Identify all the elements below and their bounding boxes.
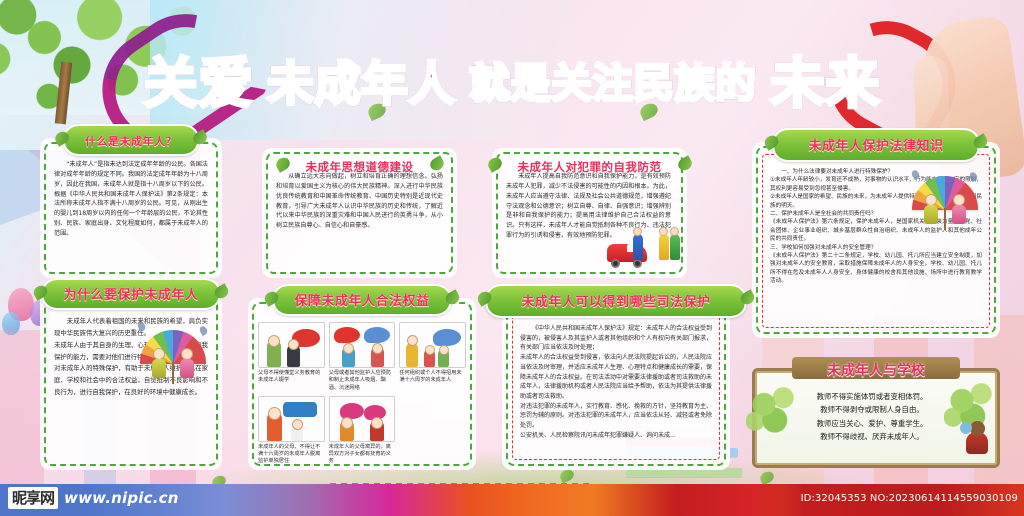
child-body	[180, 359, 194, 378]
panel-header-judicial-protection: 未成年人可以得到哪些司法保护	[485, 284, 746, 318]
reading-child-illustration	[960, 416, 994, 454]
comic-caption: 任何组织或个人不得招用未满十六周岁的未成年人	[399, 368, 466, 385]
umbrella-icon	[140, 330, 206, 364]
car-wheel	[633, 259, 642, 268]
person-head	[343, 343, 354, 354]
balloon-icon	[960, 422, 972, 434]
comic-caption: 未成年人的父母、不得让不满十六周岁的未成年人脱离监护单独居住	[258, 442, 325, 466]
person-figure-icon	[670, 234, 680, 260]
comic-illustration	[399, 322, 466, 368]
person-head	[292, 419, 303, 430]
comic-caption: 父母不得使懂堂义务教育的未成年人辍学	[258, 368, 325, 385]
legal-rights-comic-grid: 父母不得使懂堂义务教育的未成年人辍学 父母或者其他监护人应预防和制止未成年人吸烟…	[258, 322, 466, 464]
child-body	[952, 205, 966, 224]
panel-header-moral-education: 未成年思想道德建设	[286, 152, 434, 180]
child-body	[924, 205, 938, 224]
speech-bubble	[364, 327, 390, 343]
car-wheel	[611, 259, 620, 268]
panel-heading-text: 保障未成年人合法权益	[294, 294, 429, 309]
title-part-guanai: 关爱	[144, 57, 254, 111]
panel-heading-text: 未成年思想道德建设	[306, 160, 414, 174]
panel-body-moral-education: 从确立远大志向做起，树立和培育正确的理想信念。弘扬和培育以爱国主义为核心的伟大民…	[276, 172, 443, 270]
child-head	[970, 421, 985, 436]
umbrella-kids-illustration	[906, 170, 986, 226]
umbrella-kids-illustration	[134, 322, 214, 380]
balloon-icon	[2, 312, 20, 335]
comic-item: 父母不得使懂堂义务教育的未成年人辍学	[258, 322, 325, 392]
panel-header-what-is-minor: 什么是未成年人？	[63, 124, 199, 156]
panel-body-what-is-minor: “未成年人”是指未达到法定成年年龄的公民。各国法律对成年年龄的规定不同。我国的法…	[54, 160, 208, 270]
poster-title: 关爱 未成年人 就是关注民族的 未来	[0, 48, 1024, 120]
panel-heading-text: 为什么要保护未成年人	[63, 288, 198, 303]
speech-bubble	[334, 327, 360, 343]
raindrop-icon	[136, 321, 147, 332]
asset-id-text: ID:32045353 NO:20230614114559030109	[801, 493, 1018, 504]
panel-heading-text: 未成年人保护法律知识	[808, 139, 943, 154]
comic-caption: 父母或者其他监护人应预防和制止未成年人吸烟、酗酒、沉迷网络	[329, 368, 396, 392]
person-figure-icon	[406, 343, 418, 367]
panel-header-legal-rights: 保障未成年人合法权益	[272, 284, 451, 316]
comic-illustration	[258, 322, 325, 368]
person-head	[268, 407, 281, 420]
speech-bubble	[340, 403, 364, 419]
title-part-weilai: 未来	[771, 57, 881, 111]
comic-caption: 未成年人的父母离异的，离异双方对子女都有抚育的义务	[329, 442, 396, 466]
child-body	[152, 359, 166, 378]
raindrop-icon	[198, 325, 209, 336]
comic-illustration	[329, 396, 396, 442]
raindrop-icon	[968, 171, 979, 182]
school-rules-list: 教师不得实施体罚或者变相体罚。 教师不得剥夺或限制人身自由。 教师应当关心、爱护…	[796, 390, 948, 444]
comic-item: 父母或者其他监护人应预防和制止未成年人吸烟、酗酒、沉迷网络	[329, 322, 396, 392]
panel-heading-text: 未成年人与学校	[827, 360, 925, 380]
person-head	[288, 339, 299, 350]
panel-what-is-minor: 什么是未成年人？ “未成年人”是指未达到法定成年年龄的公民。各国法律对成年年龄的…	[40, 138, 222, 278]
panel-protection-law: 未成年人保护法律知识 一、为什么法律要对未成年人进行特殊保护？ ①未成年人年龄较…	[752, 142, 1000, 338]
comic-caption	[399, 396, 466, 398]
panel-header-self-defense: 未成年人对犯罪的自我防范	[498, 152, 682, 180]
panel-minors-and-school: 未成年人与学校 教师不得实施体罚或者变相体罚。 教师不得剥夺或限制人身自由。 教…	[752, 368, 1000, 468]
footer-brand[interactable]: 昵享网 www.nipic.cn	[8, 487, 179, 509]
school-rule-line: 教师不得歧视、厌弃未成年人。	[796, 430, 948, 443]
person-head	[633, 227, 642, 236]
person-head	[268, 335, 280, 347]
speech-bubble	[433, 329, 461, 346]
panel-header-why-protect: 为什么要保护未成年人	[41, 278, 220, 310]
comic-item: 未成年人的父母离异的，离异双方对子女都有抚育的义务	[329, 396, 396, 466]
person-head	[670, 227, 679, 236]
person-head	[341, 417, 353, 429]
panel-heading-text: 未成年人可以得到哪些司法保护	[521, 295, 710, 310]
poster-canvas: 关爱 未成年人 就是关注民族的 未来 什么是未成年人？ “未成年人”是指未达到法…	[0, 0, 1024, 516]
panel-header-protection-law: 未成年人保护法律知识	[772, 128, 979, 162]
site-url[interactable]: www.nipic.cn	[64, 489, 179, 507]
school-rule-line: 教师不得实施体罚或者变相体罚。	[796, 390, 948, 403]
comic-item-empty	[399, 396, 466, 466]
umbrella-stick	[944, 208, 946, 230]
raindrop-icon	[910, 169, 921, 180]
speech-bubble	[283, 402, 317, 417]
comic-item: 未成年人的父母、不得让不满十六周岁的未成年人脱离监护单独居住	[258, 396, 325, 466]
child-figure-icon	[924, 194, 938, 224]
umbrella-stick	[172, 362, 174, 384]
panel-why-protect: 为什么要保护未成年人 未成年人代表着祖国的未来和民族的希望，肩负实现中华民族伟大…	[40, 292, 222, 470]
panel-self-defense: 未成年人对犯罪的自我防范 未成年人提高自我防范意识和自我保护能力，是有效预防未成…	[492, 148, 687, 278]
title-part-jiushiguanzhu: 就是关注民族的	[470, 64, 757, 104]
person-figure-icon	[633, 234, 643, 260]
panel-heading-text: 未成年人对犯罪的自我防范	[518, 160, 662, 174]
title-part-weichengnianren: 未成年人	[268, 61, 456, 107]
footer-bar: 昵享网 www.nipic.cn ID:32045353 NO:20230614…	[0, 484, 1024, 516]
comic-illustration	[258, 396, 325, 442]
panel-judicial-protection: 未成年人可以得到哪些司法保护 《中华人民共和国未成年人保护法》规定：未成年人的合…	[502, 298, 730, 470]
panel-moral-education: 未成年思想道德建设 从确立远大志向做起，树立和培育正确的理想信念。弘扬和培育以爱…	[262, 148, 457, 278]
traffic-safety-illustration	[607, 218, 681, 270]
person-figure-icon	[659, 234, 669, 260]
child-figure-icon	[952, 194, 966, 224]
person-head	[659, 227, 668, 236]
panel-heading-text: 什么是未成年人？	[85, 135, 177, 148]
school-rule-line: 教师应当关心、爱护、尊重学生。	[796, 417, 948, 430]
umbrella-icon	[912, 176, 978, 210]
comic-illustration	[329, 322, 396, 368]
site-logo[interactable]: 昵享网	[8, 487, 58, 509]
child-figure-icon	[180, 348, 194, 378]
balloon-icon	[8, 288, 34, 321]
child-figure-icon	[152, 348, 166, 378]
panel-legal-rights: 保障未成年人合法权益 父母不得使懂堂义务教育的未成年人辍学	[248, 298, 476, 470]
panel-body-judicial-protection: 《中华人民共和国未成年人保护法》规定：未成年人的合法权益受到侵害的，被侵害人及其…	[520, 324, 712, 458]
school-rule-line: 教师不得剥夺或限制人身自由。	[796, 403, 948, 416]
comic-item: 任何组织或个人不得招用未满十六周岁的未成年人	[399, 322, 466, 392]
